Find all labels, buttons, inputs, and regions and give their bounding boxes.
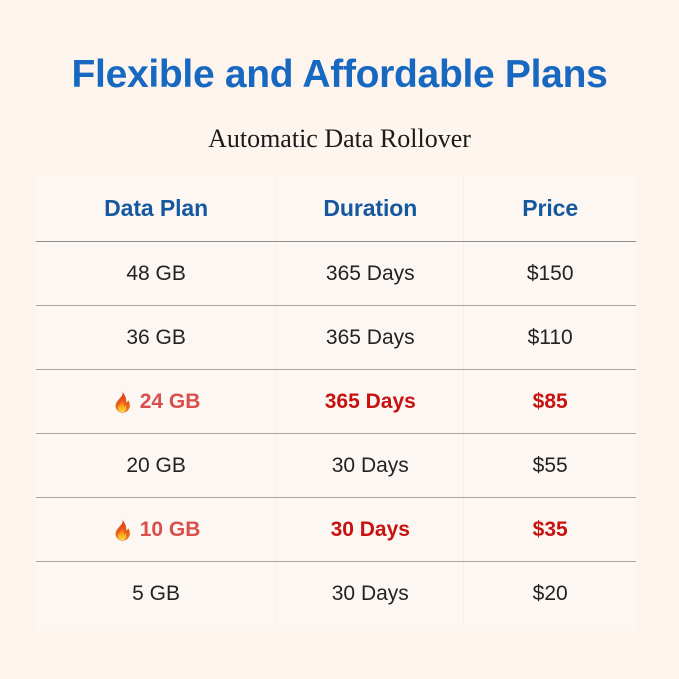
flame-icon [112, 390, 131, 413]
plan-label-group: 24 GB [112, 390, 201, 414]
plan-label-group: 48 GB [126, 262, 186, 286]
plan-label: 36 GB [126, 326, 186, 350]
cell-price: $85 [464, 370, 636, 433]
table-row: 10 GB30 Days$35 [36, 498, 636, 562]
cell-data-plan: 36 GB [36, 306, 277, 369]
cell-price: $35 [464, 498, 636, 561]
plan-label: 20 GB [126, 454, 186, 478]
plan-label-group: 36 GB [126, 326, 186, 350]
plan-label-group: 5 GB [132, 582, 180, 606]
plan-label-group: 20 GB [126, 454, 186, 478]
cell-price: $110 [464, 306, 636, 369]
cell-duration: 365 Days [277, 242, 464, 305]
column-header-data-plan: Data Plan [36, 175, 277, 241]
cell-price: $20 [464, 562, 636, 626]
table-body: 48 GB365 Days$15036 GB365 Days$11024 GB3… [36, 242, 636, 626]
table-row: 36 GB365 Days$110 [36, 306, 636, 370]
cell-duration: 365 Days [277, 370, 464, 433]
cell-data-plan: 5 GB [36, 562, 277, 626]
table-row: 24 GB365 Days$85 [36, 370, 636, 434]
cell-price: $150 [464, 242, 636, 305]
cell-duration: 365 Days [277, 306, 464, 369]
plan-label: 24 GB [140, 390, 201, 414]
table-header-row: Data Plan Duration Price [36, 175, 636, 242]
column-header-price: Price [464, 175, 636, 241]
cell-price: $55 [464, 434, 636, 497]
flame-icon [112, 518, 131, 541]
cell-duration: 30 Days [277, 562, 464, 626]
cell-data-plan: 10 GB [36, 498, 277, 561]
cell-duration: 30 Days [277, 434, 464, 497]
cell-data-plan: 48 GB [36, 242, 277, 305]
page-subtitle: Automatic Data Rollover [0, 125, 679, 154]
table-row: 48 GB365 Days$150 [36, 242, 636, 306]
plan-label: 5 GB [132, 582, 180, 606]
column-header-duration: Duration [277, 175, 464, 241]
cell-data-plan: 24 GB [36, 370, 277, 433]
page-title: Flexible and Affordable Plans [0, 55, 679, 96]
plan-label: 48 GB [126, 262, 186, 286]
plan-label: 10 GB [140, 518, 201, 542]
pricing-plans-page: Flexible and Affordable Plans Automatic … [0, 0, 679, 679]
cell-duration: 30 Days [277, 498, 464, 561]
plan-label-group: 10 GB [112, 518, 201, 542]
table-row: 5 GB30 Days$20 [36, 562, 636, 626]
table-row: 20 GB30 Days$55 [36, 434, 636, 498]
cell-data-plan: 20 GB [36, 434, 277, 497]
pricing-table: Data Plan Duration Price 48 GB365 Days$1… [36, 175, 636, 630]
